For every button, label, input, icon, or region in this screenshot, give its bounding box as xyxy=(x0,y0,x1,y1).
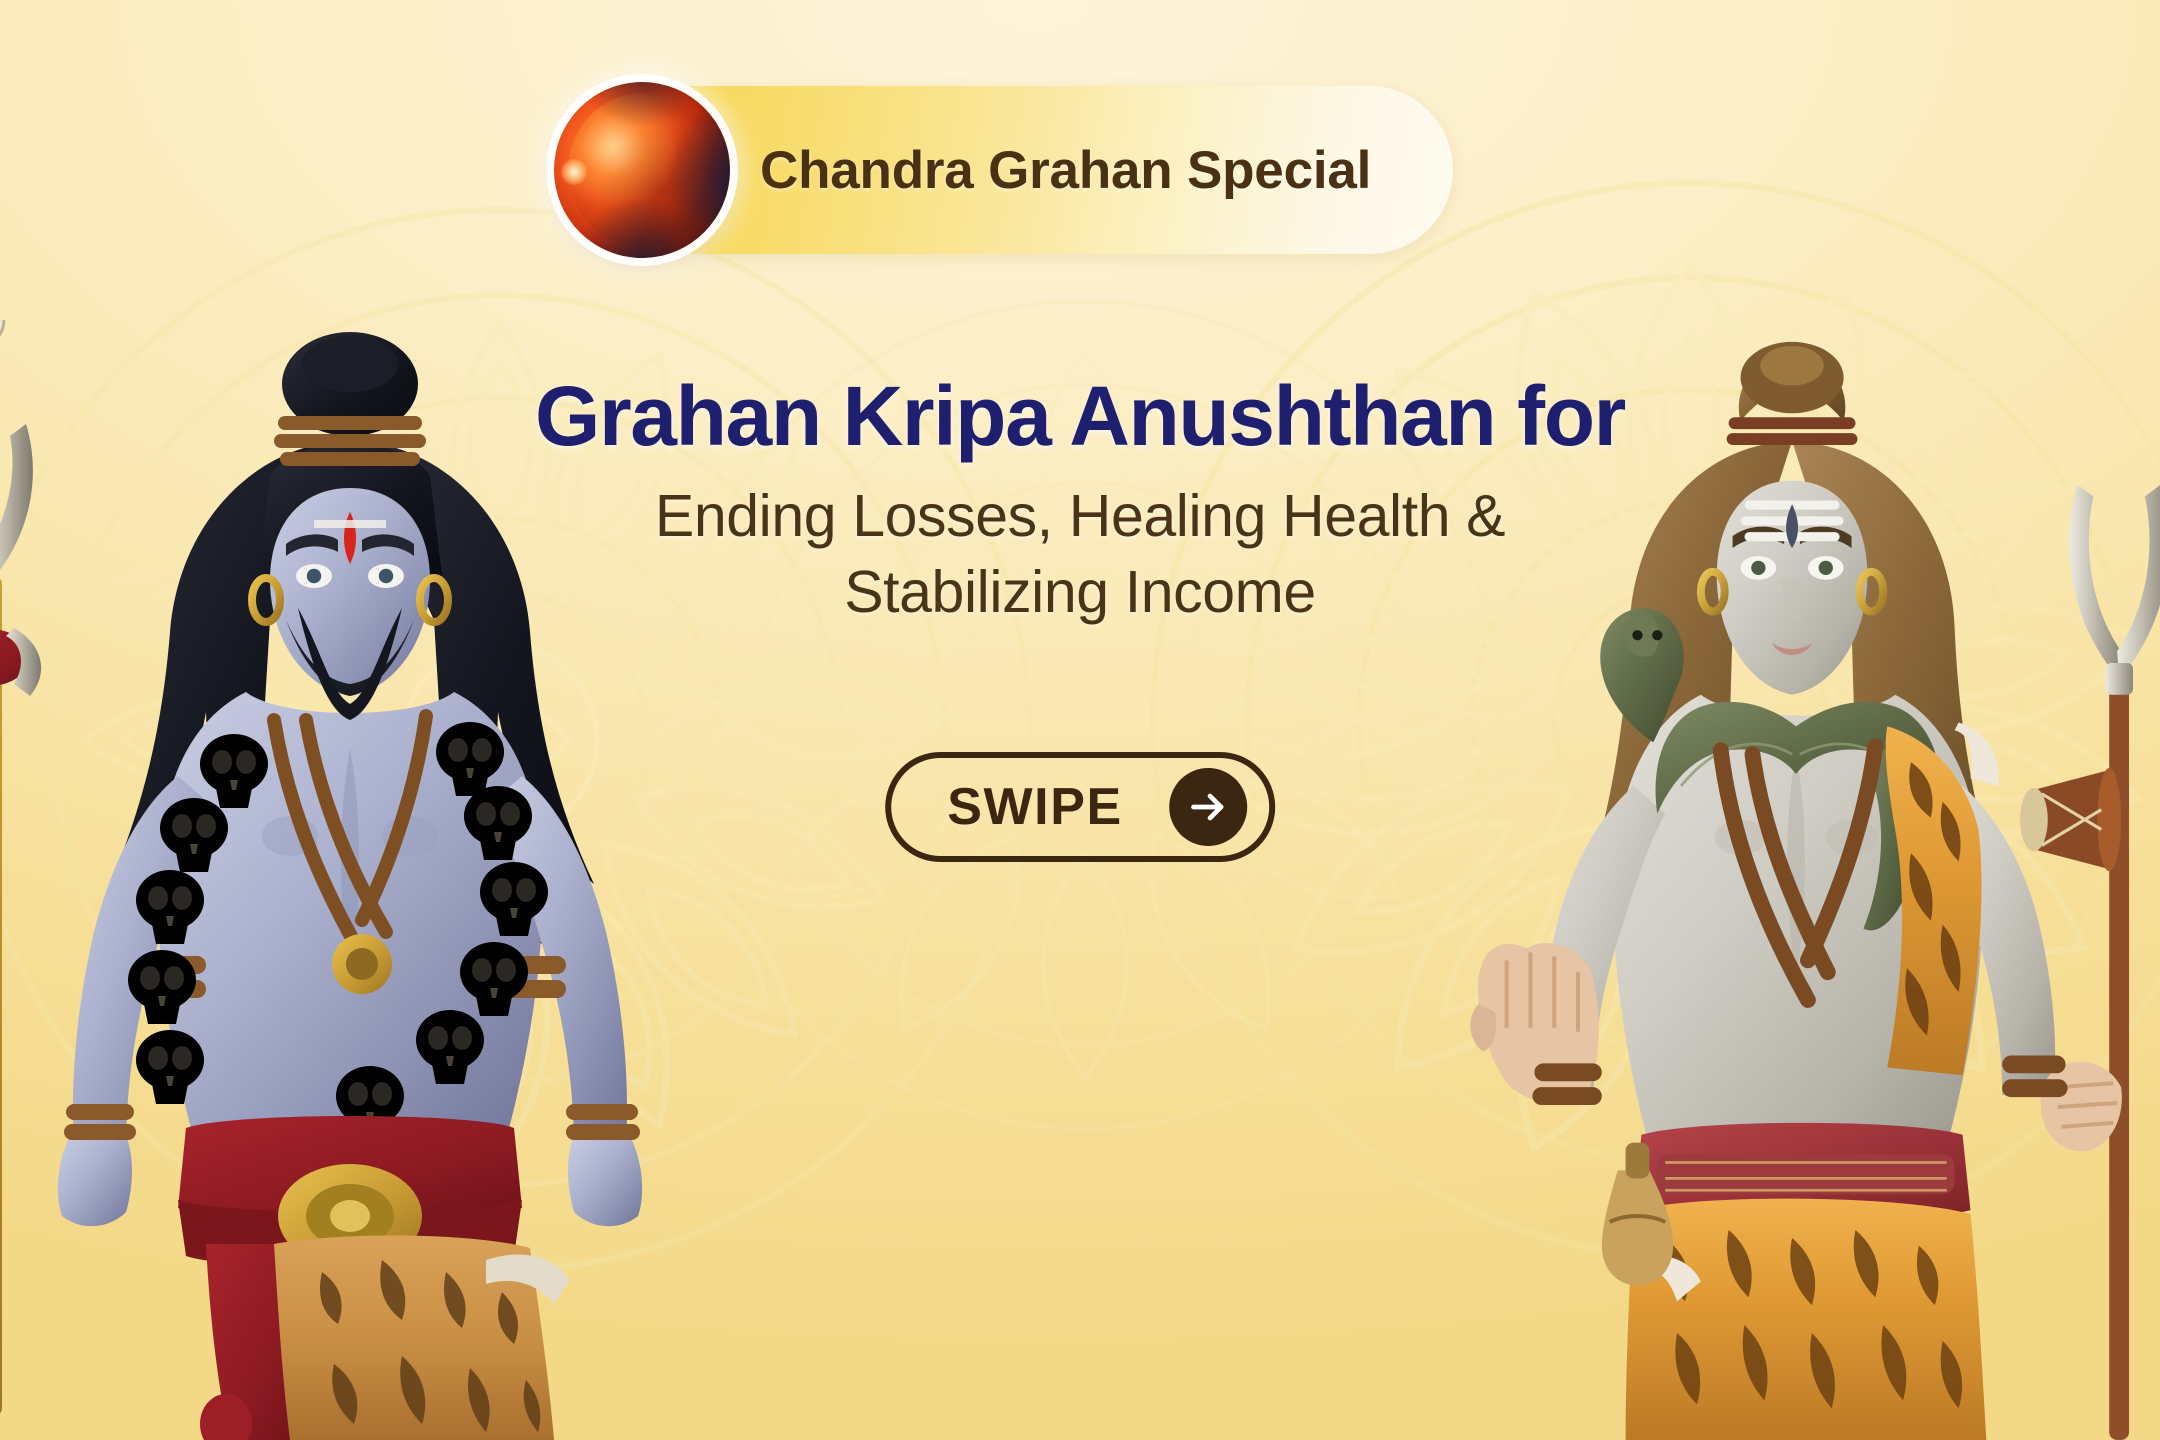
tiger-skin-dhoti xyxy=(274,1235,570,1440)
staff-grip-hand xyxy=(2041,1062,2122,1151)
mandala-watermark-right xyxy=(1100,130,2160,1310)
arrow-right-icon[interactable] xyxy=(1169,768,1247,846)
rudraksha-bands xyxy=(64,956,640,1140)
rudraksha-mala xyxy=(1721,746,1876,1000)
subtitle: Ending Losses, Healing Health & Stabiliz… xyxy=(0,479,2160,630)
chandra-grahan-badge[interactable]: Chandra Grahan Special xyxy=(560,84,1453,256)
page-title: Grahan Kripa Anushthan for xyxy=(0,372,2160,461)
torso xyxy=(158,692,542,1140)
blessing-hand xyxy=(1470,943,1598,1102)
subtitle-line-1: Ending Losses, Healing Health & xyxy=(0,479,2160,555)
mala-pendant xyxy=(332,934,392,994)
tiger-skin-dhoti xyxy=(1626,1199,1987,1440)
rudraksha-mala xyxy=(274,716,426,956)
copy-block: Grahan Kripa Anushthan for Ending Losses… xyxy=(0,372,2160,630)
waist-cloth xyxy=(178,1116,522,1440)
arms xyxy=(1541,786,2055,1095)
rudraksha-bands xyxy=(1532,1055,2067,1105)
torso xyxy=(1614,695,1983,1147)
badge-pill[interactable]: Chandra Grahan Special xyxy=(560,86,1453,254)
arms xyxy=(58,776,642,1226)
badge-label: Chandra Grahan Special xyxy=(760,140,1371,201)
cobra-snake xyxy=(1600,608,1940,930)
damaru-drum xyxy=(2020,768,2121,871)
swipe-label: SWIPE xyxy=(947,777,1123,837)
swipe-button[interactable]: SWIPE xyxy=(885,752,1275,862)
eclipse-flare xyxy=(561,159,587,185)
waist-sash xyxy=(1634,1123,1983,1440)
subtitle-line-2: Stabilizing Income xyxy=(0,555,2160,631)
promo-poster: Chandra Grahan Special Grahan Kripa Anus… xyxy=(0,0,2160,1440)
blood-moon-eclipse-icon xyxy=(554,82,730,258)
tiger-skin-drape xyxy=(1886,722,1999,1075)
mandala-watermark-left xyxy=(0,170,1070,1310)
kamandal-gourd xyxy=(1602,1143,1673,1286)
